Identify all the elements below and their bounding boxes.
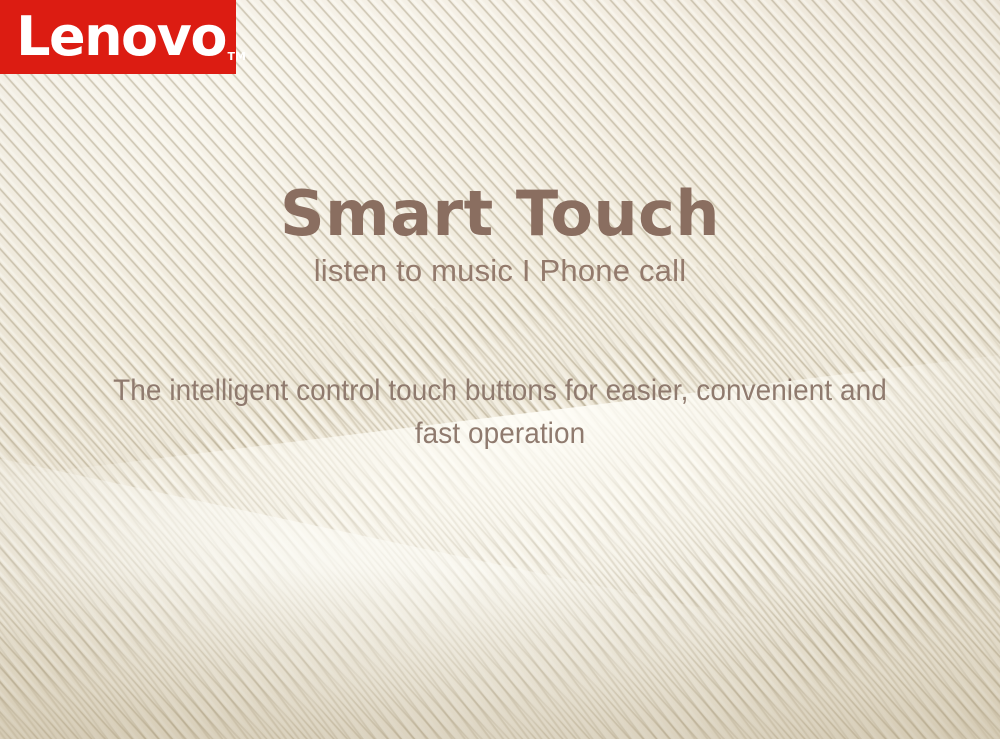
- product-banner: LenovoTM Smart Touch listen to music I P…: [0, 0, 1000, 739]
- lenovo-wordmark: LenovoTM: [16, 10, 226, 64]
- lenovo-brand-text: Lenovo: [16, 5, 226, 68]
- page-subtitle: listen to music I Phone call: [0, 252, 1000, 290]
- feature-description: The intelligent control touch buttons fo…: [60, 369, 940, 455]
- lenovo-logo: LenovoTM: [0, 0, 236, 74]
- feature-description-text: The intelligent control touch buttons fo…: [91, 369, 909, 455]
- trademark-icon: TM: [227, 51, 245, 62]
- headline-block: Smart Touch listen to music I Phone call…: [0, 178, 1000, 290]
- page-title: Smart Touch: [0, 178, 1000, 250]
